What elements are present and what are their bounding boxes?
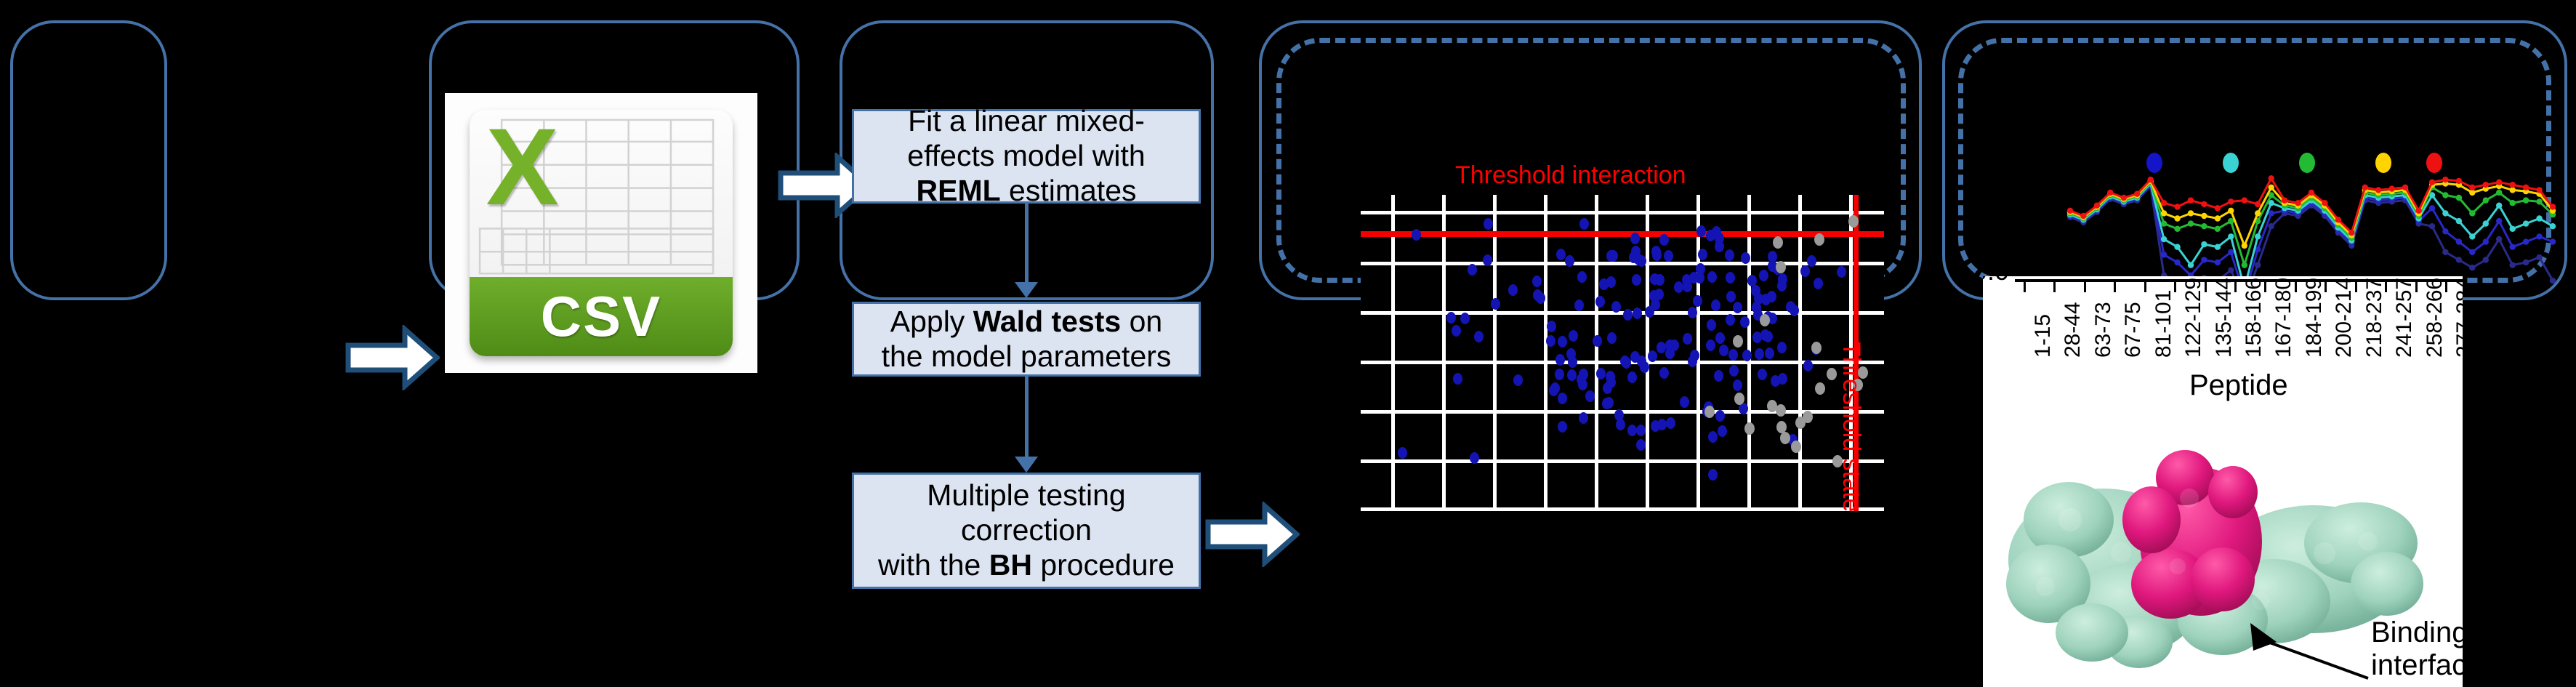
peptide-series-marker: [2442, 210, 2448, 216]
box-bh-line3-prefix: with the: [878, 548, 989, 582]
scatter-point-significant: [1574, 300, 1584, 311]
peptide-series-marker: [2523, 238, 2529, 244]
peptide-series-marker: [2174, 226, 2180, 232]
scatter-point-nonsignificant: [1791, 441, 1801, 453]
scatter-point-significant: [1718, 425, 1727, 437]
gridline: [1442, 195, 1446, 511]
scatter-point-significant: [1680, 396, 1689, 408]
peptide-series-marker: [2242, 197, 2247, 203]
peptide-tick-label: 135-144: [2212, 278, 2237, 358]
scatter-point-significant: [1659, 234, 1669, 246]
scatter-point-significant: [1595, 296, 1605, 308]
scatter-point-significant: [1536, 292, 1545, 304]
scatter-point-significant: [1636, 439, 1646, 451]
peptide-series-marker: [2148, 177, 2154, 182]
peptide-tick: [2144, 281, 2146, 292]
scatter-point-significant: [1607, 332, 1617, 344]
scatter-point-significant: [1706, 230, 1715, 241]
box-bh-line3-suffix: procedure: [1032, 548, 1175, 582]
scatter-point-nonsignificant: [1776, 261, 1786, 273]
peptide-series-marker: [2228, 233, 2234, 239]
binding-interface-label: Binding interface: [2371, 616, 2463, 682]
scatter-point-significant: [1696, 263, 1705, 275]
peptide-series-marker: [2510, 187, 2516, 193]
scatter-point-significant: [1696, 225, 1706, 237]
peptide-series-marker: [2429, 223, 2435, 229]
peptide-series-marker: [2228, 208, 2234, 214]
peptide-tick-label: 258-266: [2423, 278, 2447, 358]
scatter-point-significant: [1508, 284, 1518, 296]
scatter-point-nonsignificant: [1811, 342, 1822, 354]
peptide-series-marker: [2469, 210, 2475, 216]
scatter-point-significant: [1555, 354, 1565, 366]
panel-data-source: [10, 20, 167, 300]
peptide-series-marker: [2415, 208, 2421, 214]
scatter-point-significant: [1707, 319, 1716, 331]
peptide-series-marker: [2174, 244, 2180, 250]
peptide-series-marker: [2496, 180, 2502, 185]
peptide-series-marker: [2188, 210, 2194, 216]
peptide-series-marker: [2215, 205, 2221, 211]
peptide-series-marker: [2255, 201, 2261, 207]
peptide-series-marker: [2456, 195, 2462, 201]
scatter-point-significant: [1452, 325, 1461, 337]
scatter-point-significant: [1558, 421, 1567, 433]
peptide-series-marker: [2174, 215, 2180, 221]
scatter-point-significant: [1579, 412, 1588, 424]
scatter-point-significant: [1741, 252, 1750, 264]
peptide-series-marker: [2469, 265, 2475, 270]
scatter-point-significant: [1468, 264, 1477, 276]
scatter-point-significant: [1657, 419, 1667, 430]
peptide-series-marker: [2536, 198, 2542, 204]
connector-fit-to-wald-head: [1015, 282, 1038, 298]
peptide-tick-label: 277-284: [2452, 278, 2463, 358]
legend-dot-3: [2299, 153, 2315, 173]
gridline: [1493, 195, 1497, 511]
peptide-series-marker: [2228, 268, 2234, 273]
threshold-state-label: Threshold state: [1837, 342, 1865, 512]
scatter-point-significant: [1726, 314, 1735, 326]
peptide-tick: [2084, 281, 2086, 292]
scatter-point-significant: [1693, 295, 1702, 307]
scatter-point-significant: [1659, 367, 1669, 379]
peptide-series-marker: [2442, 228, 2448, 234]
box-multiple-testing-text: Multiple testing correction with the BH …: [878, 478, 1175, 583]
peptide-series-marker: [2107, 190, 2113, 196]
scatter-point-significant: [1627, 371, 1637, 383]
peptide-series-marker: [2255, 233, 2261, 239]
peptide-series-marker: [2469, 185, 2475, 190]
scatter-point-nonsignificant: [1773, 236, 1783, 249]
peptide-series-marker: [2483, 257, 2489, 262]
scatter-point-significant: [1768, 251, 1777, 262]
box-fit-model[interactable]: Fit a linear mixed- effects model with R…: [852, 109, 1201, 204]
peptide-series-marker: [2483, 182, 2489, 188]
peptide-series-marker: [2469, 233, 2475, 239]
peptide-series-marker: [2269, 175, 2274, 181]
peptide-tick-label: 122-129: [2181, 278, 2206, 358]
csv-file-icon[interactable]: X CSV: [445, 93, 757, 373]
peptide-series-marker: [2121, 195, 2127, 201]
scatter-point-significant: [1715, 332, 1725, 344]
peptide-series-marker: [2510, 262, 2516, 268]
peptide-tick-label: 167-180: [2271, 278, 2296, 358]
scatter-point-significant: [1729, 365, 1739, 377]
peptide-series-marker: [2188, 262, 2194, 268]
peptide-series-marker: [2536, 233, 2542, 239]
scatter-point-significant: [1800, 265, 1810, 277]
scatter-point-significant: [1593, 335, 1602, 347]
gridline: [1595, 195, 1598, 511]
peptide-series-marker: [2201, 213, 2207, 219]
peptide-series-marker: [2215, 260, 2221, 265]
scatter-point-significant: [1755, 348, 1764, 360]
scatter-point-significant: [1758, 369, 1767, 380]
peptide-series-marker: [2188, 220, 2194, 226]
scatter-point-nonsignificant: [1848, 215, 1859, 228]
scatter-point-nonsignificant: [1815, 382, 1825, 395]
scatter-point-significant: [1602, 398, 1611, 409]
peptide-series-marker: [2094, 203, 2100, 209]
scatter-point-significant: [1740, 316, 1750, 328]
peptide-tick: [2024, 281, 2026, 292]
box-multiple-testing[interactable]: Multiple testing correction with the BH …: [852, 473, 1201, 589]
scatter-point-significant: [1714, 370, 1723, 382]
scatter-point-nonsignificant: [1827, 368, 1837, 380]
scatter-point-nonsignificant: [1760, 314, 1770, 326]
scatter-point-significant: [1596, 368, 1606, 379]
scatter-point-nonsignificant: [1776, 404, 1786, 417]
scatter-point-significant: [1546, 335, 1555, 347]
peptide-series-marker: [2080, 213, 2086, 219]
scatter-point-significant: [1565, 255, 1574, 267]
peptide-series-marker: [2550, 223, 2556, 229]
peptide-tick-label: 63-73: [2091, 302, 2116, 358]
scatter-point-significant: [1470, 452, 1479, 464]
scatter-point-significant: [1777, 342, 1787, 353]
peptide-tick-label: 241-257: [2392, 278, 2417, 358]
scatter-point-significant: [1460, 313, 1470, 324]
gridline: [1391, 195, 1395, 511]
peptide-series-marker: [2255, 210, 2261, 216]
threshold-interaction-line: [1361, 231, 1884, 237]
peptide-series-marker: [2215, 244, 2221, 250]
scatter-point-nonsignificant: [1767, 400, 1777, 412]
scatter-point-nonsignificant: [1795, 417, 1806, 429]
peptide-series-marker: [2067, 208, 2073, 214]
scatter-point-significant: [1733, 379, 1742, 391]
scatter-point-significant: [1549, 385, 1558, 396]
scatter-point-significant: [1558, 336, 1567, 347]
peptide-series-marker: [2215, 226, 2221, 232]
peptide-axis-title: Peptide: [2189, 369, 2288, 402]
bound-peptide: [2122, 450, 2262, 619]
box-bh-keyword: BH: [989, 548, 1032, 582]
scatter-point-significant: [1707, 271, 1717, 283]
box-bh-line1: Multiple testing: [927, 478, 1125, 512]
scatter-point-significant: [1532, 276, 1542, 287]
scatter-point-significant: [1398, 447, 1407, 459]
scatter-point-significant: [1603, 382, 1612, 394]
scatter-point-significant: [1606, 276, 1616, 288]
peptide-series-marker: [2496, 203, 2502, 209]
peptide-series-marker: [2523, 260, 2529, 265]
scatter-point-significant: [1715, 241, 1724, 252]
peptide-series-marker: [2215, 215, 2221, 221]
peptide-series-marker: [2402, 185, 2408, 190]
scatter-point-significant: [1688, 355, 1697, 367]
scatter-point-significant: [1636, 425, 1646, 436]
peptide-series-marker: [2456, 257, 2462, 262]
scatter-point-significant: [1585, 390, 1595, 402]
scatter-point-significant: [1837, 266, 1846, 278]
scatter-point-significant: [1579, 218, 1589, 230]
peptide-series-marker: [2134, 191, 2140, 197]
scatter-point-significant: [1654, 289, 1664, 300]
y-axis-zero-label: 0.0: [1983, 276, 2009, 286]
peptide-series-marker: [2348, 230, 2354, 236]
scatter-point-significant: [1664, 250, 1673, 262]
gridline: [1798, 195, 1802, 511]
scatter-point-significant: [1558, 393, 1567, 404]
csv-label: CSV: [541, 284, 661, 350]
peptide-series-marker: [2496, 236, 2502, 242]
peptide-series-marker: [2161, 220, 2167, 226]
peptide-series-marker: [2188, 197, 2194, 203]
box-wald-line2: the model parameters: [882, 340, 1172, 373]
box-wald-keyword: Wald tests: [973, 305, 1122, 338]
scatter-point-significant: [1670, 340, 1679, 351]
peptide-series-marker: [2242, 243, 2247, 249]
peptide-series-marker: [2550, 238, 2556, 244]
scatter-point-significant: [1728, 349, 1738, 361]
peptide-tick-label: 67-75: [2121, 302, 2146, 358]
peptide-tick-label: 184-199: [2302, 278, 2327, 358]
scatter-point-significant: [1483, 254, 1492, 266]
gridline: [1544, 195, 1547, 511]
scatter-point-significant: [1683, 333, 1692, 345]
peptide-series-marker: [2523, 197, 2529, 203]
peptide-series-marker: [2201, 223, 2207, 229]
scatter-point-significant: [1491, 298, 1500, 310]
peptide-series-marker: [2510, 244, 2516, 250]
scatter-point-significant: [1547, 321, 1556, 332]
peptide-series-marker: [2161, 236, 2167, 242]
scatter-point-significant: [1606, 250, 1616, 262]
scatter-point-significant: [1616, 419, 1625, 430]
peptide-series-marker: [2496, 218, 2502, 224]
scatter-point-significant: [1719, 345, 1728, 356]
scatter-point-nonsignificant: [1734, 393, 1744, 405]
scatter-point-significant: [1765, 347, 1774, 359]
peptide-series-marker: [2456, 178, 2462, 184]
binding-interface-leader: [2268, 642, 2368, 678]
scatter-point-significant: [1814, 278, 1823, 289]
peptide-series-marker: [2375, 187, 2381, 193]
volcano-threshold-plot: [1361, 195, 1884, 511]
peptide-series-marker: [2510, 200, 2516, 206]
legend-dot-5: [2426, 153, 2442, 173]
legend-dot-4: [2375, 153, 2391, 173]
peptide-series-marker: [2335, 217, 2341, 222]
scatter-point-significant: [1698, 249, 1707, 260]
scatter-point-nonsignificant: [1744, 422, 1755, 435]
box-fit-model-text: Fit a linear mixed- effects model with R…: [907, 104, 1145, 209]
peptide-series-marker: [2269, 223, 2274, 229]
peptide-series-marker: [2510, 182, 2516, 188]
peptide-series-marker: [2228, 198, 2234, 204]
scatter-point-significant: [1606, 371, 1615, 382]
box-wald-tests-text: Apply Wald tests on the model parameters: [882, 305, 1172, 374]
peptide-series-marker: [2161, 210, 2167, 216]
scatter-point-significant: [1708, 469, 1718, 481]
scatter-point-significant: [1803, 360, 1813, 371]
binding-interface-line2: interface: [2371, 649, 2463, 682]
peptide-series-marker: [2429, 205, 2435, 211]
arrow-stats-to-results: [1205, 502, 1300, 567]
peptide-series-marker: [2523, 185, 2529, 190]
scatter-point-significant: [1683, 281, 1692, 292]
scatter-point-significant: [1726, 291, 1736, 302]
box-wald-line1-suffix: on: [1121, 305, 1162, 338]
peptide-series-marker: [2550, 278, 2556, 284]
scatter-point-significant: [1513, 374, 1523, 386]
structure-figure-card: 1-1528-4463-7367-7581-101122-129135-1441…: [1983, 276, 2463, 687]
peptide-series-marker: [2295, 200, 2301, 206]
scatter-point-significant: [1807, 255, 1816, 267]
scatter-point-significant: [1568, 356, 1577, 368]
peptide-series-marker: [2282, 197, 2287, 203]
peptide-series-marker: [2429, 180, 2435, 185]
scatter-point-significant: [1474, 331, 1484, 342]
scatter-point-significant: [1771, 375, 1780, 387]
peptide-series-marker: [2201, 241, 2207, 247]
peptide-series-marker: [2442, 249, 2448, 255]
peptide-series-marker: [2269, 185, 2274, 190]
peptide-series-marker: [2242, 262, 2247, 268]
scatter-point-significant: [1652, 249, 1662, 261]
peptide-tick-label: 81-101: [2152, 290, 2176, 358]
scatter-point-significant: [1725, 249, 1734, 261]
peptide-tick: [2053, 281, 2056, 292]
binding-interface-line1: Binding: [2371, 616, 2463, 649]
scatter-point-significant: [1412, 229, 1421, 241]
scatter-point-significant: [1630, 233, 1640, 244]
peptide-tick-label: 1-15: [2031, 314, 2056, 358]
peptide-series-marker: [2174, 204, 2180, 209]
peptide-series-marker: [2201, 257, 2207, 262]
scatter-point-significant: [1767, 291, 1776, 302]
scatter-point-significant: [1623, 309, 1633, 321]
threshold-interaction-label: Threshold interaction: [1455, 161, 1686, 190]
peptide-series-marker: [2536, 254, 2542, 260]
scatter-point-significant: [1688, 307, 1697, 318]
box-fit-model-line2: effects model with: [907, 139, 1145, 172]
csv-band: CSV: [470, 277, 732, 355]
scatter-point-significant: [1711, 300, 1720, 311]
peptide-series-marker: [2389, 185, 2395, 191]
connector-fit-to-wald: [1025, 204, 1029, 282]
box-fit-model-keyword: REML: [917, 174, 1001, 207]
scatter-point-nonsignificant: [1733, 335, 1743, 347]
scatter-point-significant: [1786, 301, 1795, 313]
peptide-series-marker: [2469, 249, 2475, 255]
scatter-point-significant: [1726, 272, 1735, 284]
scatter-point-significant: [1453, 373, 1462, 385]
peptide-series-marker: [2228, 249, 2234, 255]
peptide-series-marker: [2456, 218, 2462, 224]
peptide-series-marker: [2201, 201, 2207, 207]
peptide-series-marker: [2550, 204, 2556, 209]
scatter-point-significant: [1579, 369, 1588, 380]
peptide-series-marker: [2536, 215, 2542, 221]
box-fit-model-line1: Fit a linear mixed-: [908, 104, 1145, 137]
gridline: [1361, 459, 1884, 463]
gridline: [1361, 211, 1884, 214]
scatter-point-significant: [1484, 218, 1493, 230]
scatter-point-significant: [1706, 340, 1715, 351]
scatter-point-significant: [1555, 369, 1564, 380]
arrow-to-csv-panel: [345, 325, 440, 390]
peptide-series-marker: [2523, 220, 2529, 226]
peptide-series-marker: [2483, 238, 2489, 244]
peptide-series-marker: [2362, 185, 2368, 190]
legend-dot-2: [2223, 153, 2239, 173]
peptide-series-marker: [2442, 177, 2448, 182]
gridline: [1361, 311, 1884, 315]
peptide-series-marker: [2322, 200, 2327, 206]
box-fit-model-line3-suffix: estimates: [1001, 174, 1137, 207]
peptide-series-marker: [2161, 200, 2167, 206]
scatter-point-significant: [1655, 274, 1665, 286]
connector-wald-to-bh-head: [1015, 457, 1038, 473]
scatter-point-significant: [1578, 379, 1587, 390]
peptide-series-marker: [2255, 262, 2261, 268]
peptide-series-marker: [2496, 190, 2502, 196]
scatter-point-significant: [1567, 369, 1577, 381]
scatter-point-nonsignificant: [1814, 233, 1824, 246]
connector-wald-to-bh: [1025, 377, 1029, 457]
scatter-point-significant: [1611, 301, 1621, 313]
scatter-point-nonsignificant: [1704, 406, 1715, 418]
box-bh-line2: correction: [961, 513, 1092, 547]
peptide-series-marker: [2161, 252, 2167, 257]
scatter-point-significant: [1778, 273, 1787, 285]
peptide-tick-label: 200-214: [2332, 278, 2356, 358]
box-wald-tests[interactable]: Apply Wald tests on the model parameters: [852, 302, 1201, 377]
scatter-point-significant: [1577, 271, 1587, 283]
csv-x-letter: X: [475, 112, 570, 220]
peptide-series-marker: [2174, 260, 2180, 265]
peptide-series-marker: [2456, 238, 2462, 244]
peptide-tick: [2114, 281, 2116, 292]
scatter-point-significant: [1556, 249, 1566, 260]
box-wald-line1-prefix: Apply: [890, 305, 973, 338]
scatter-point-significant: [1632, 274, 1641, 286]
scatter-point-significant: [1708, 431, 1718, 443]
csv-icon-tile: X CSV: [470, 110, 732, 356]
scatter-point-significant: [1666, 417, 1675, 429]
scatter-point-significant: [1446, 312, 1456, 324]
peptide-tick-label: 158-166: [2242, 278, 2266, 358]
peptide-series-marker: [2510, 226, 2516, 232]
scatter-point-significant: [1759, 270, 1768, 281]
legend-dot-1: [2146, 153, 2162, 173]
peptide-series-marker: [2536, 187, 2542, 193]
gridline: [1361, 507, 1884, 511]
scatter-point-significant: [1633, 308, 1642, 319]
